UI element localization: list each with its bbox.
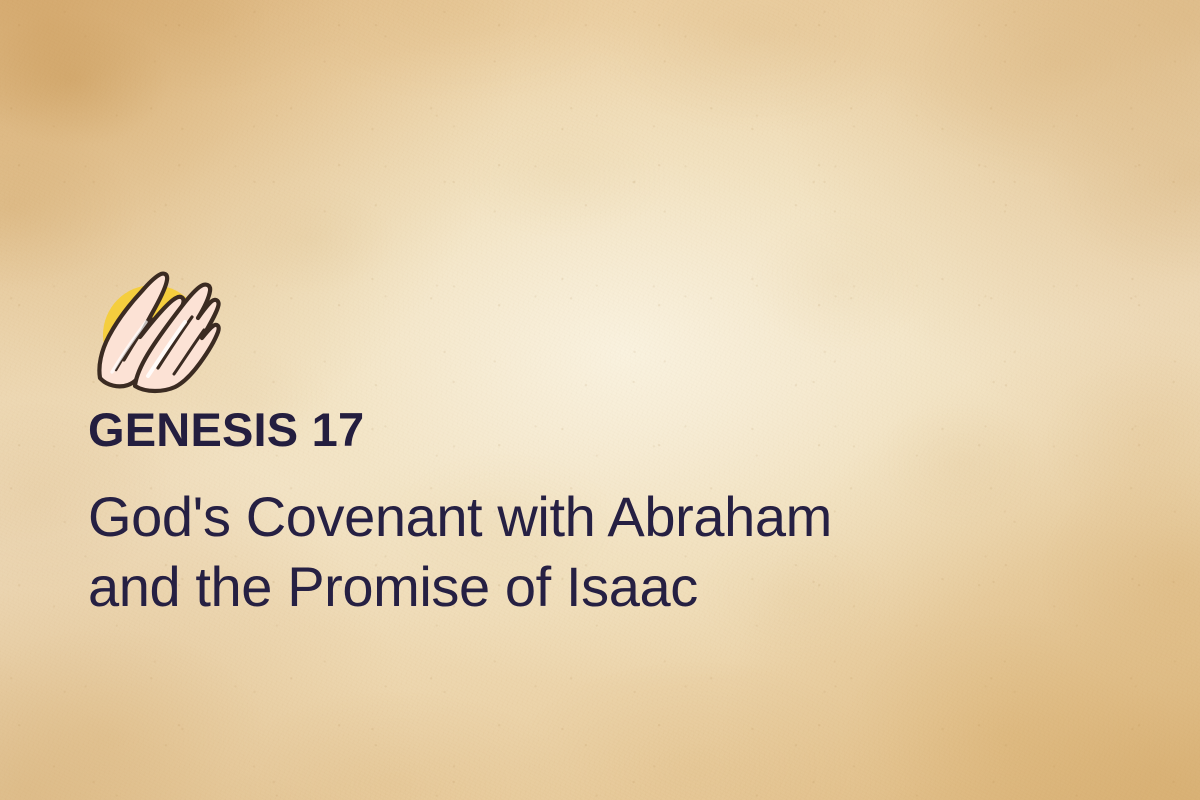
page-title-line-1: God's Covenant with Abraham xyxy=(88,482,832,552)
praying-hands-icon xyxy=(88,258,218,390)
page-title-line-2: and the Promise of Isaac xyxy=(88,552,832,622)
emblem xyxy=(88,258,218,390)
page-title: God's Covenant with Abraham and the Prom… xyxy=(88,482,832,622)
content-column: GENESIS 17 God's Covenant with Abraham a… xyxy=(88,0,1088,800)
title-card: GENESIS 17 God's Covenant with Abraham a… xyxy=(0,0,1200,800)
chapter-reference: GENESIS 17 xyxy=(88,406,364,453)
